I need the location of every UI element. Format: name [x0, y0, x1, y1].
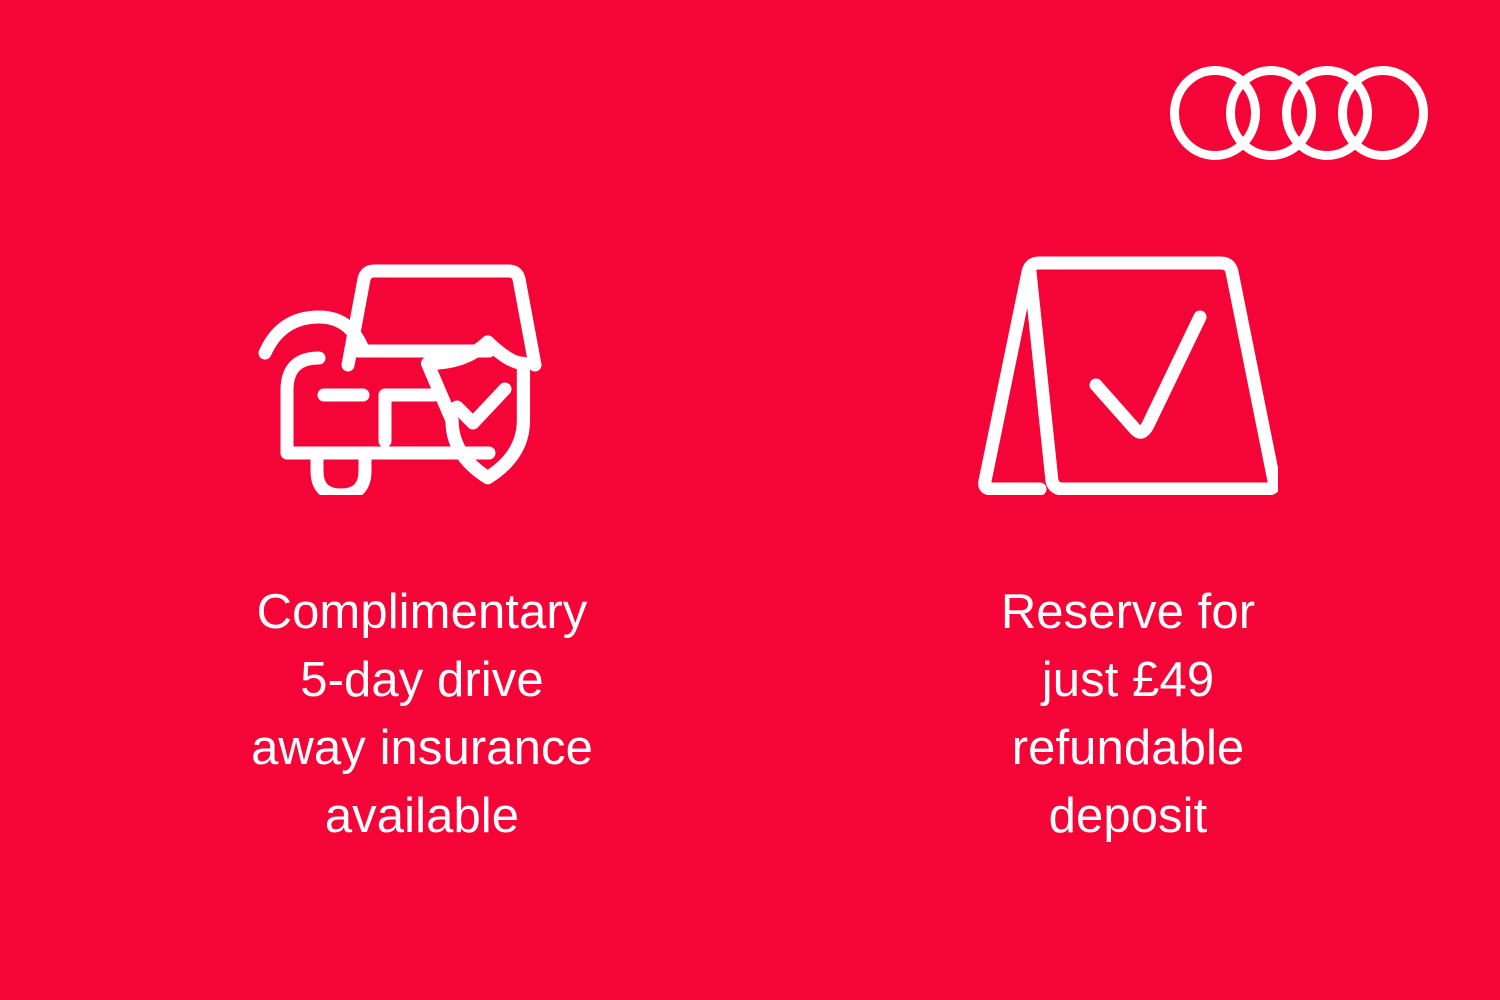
feature-insurance: Complimentary 5-day drive away insurance…	[142, 250, 702, 850]
audi-four-rings-icon	[1170, 66, 1428, 160]
feature-insurance-icon-wrap	[257, 250, 587, 500]
feature-deposit: Reserve for just £49 refundable deposit	[848, 250, 1408, 850]
feature-deposit-caption: Reserve for just £49 refundable deposit	[893, 578, 1363, 850]
feature-insurance-caption: Complimentary 5-day drive away insurance…	[142, 578, 702, 850]
car-with-shield-icon	[257, 255, 587, 495]
folded-card-check-icon	[978, 255, 1278, 495]
promo-banner: Complimentary 5-day drive away insurance…	[0, 0, 1500, 1000]
feature-deposit-icon-wrap	[978, 250, 1278, 500]
